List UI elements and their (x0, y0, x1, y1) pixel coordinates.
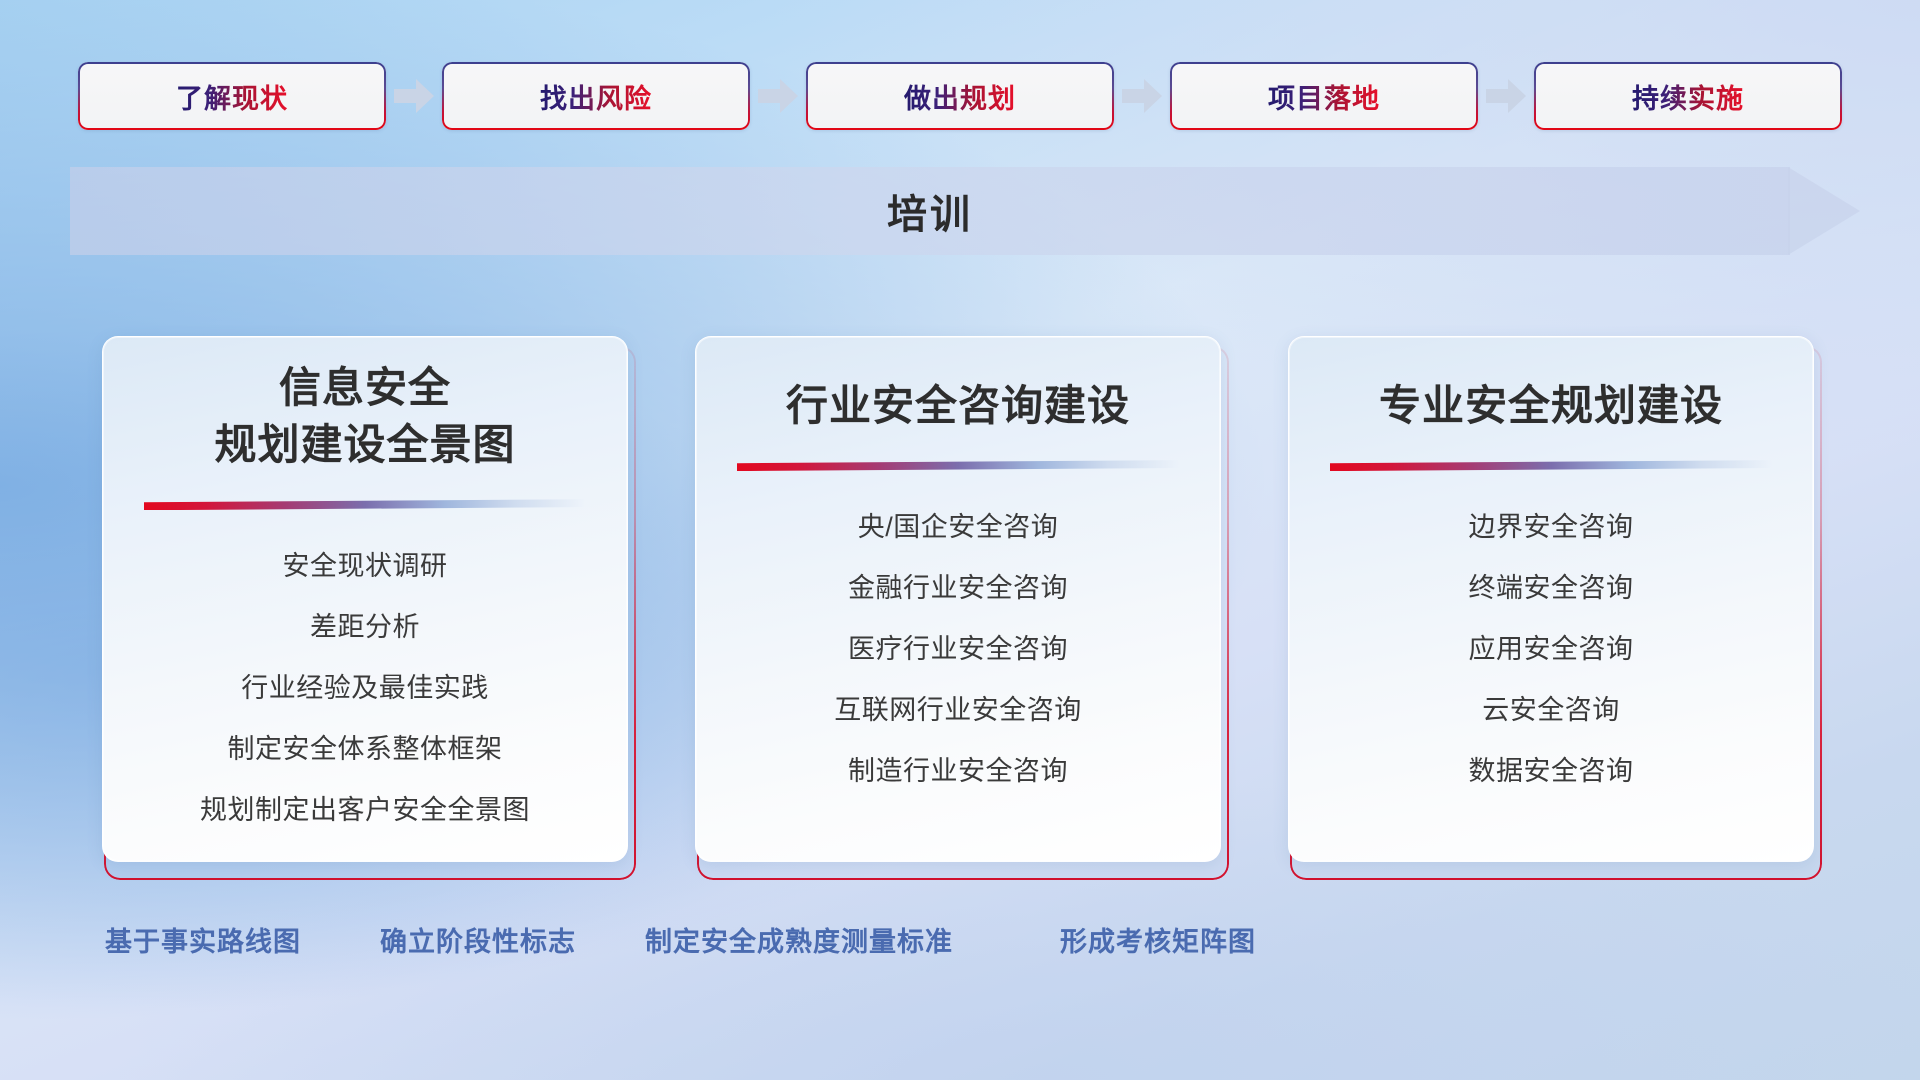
card-title-line: 行业安全咨询建设 (696, 377, 1220, 434)
list-item: 应用安全咨询 (1469, 626, 1634, 667)
card-title-line: 规划建设全景图 (103, 416, 627, 473)
footer-label-3: 制定安全成熟度测量标准 (645, 920, 953, 959)
step-arrow-icon (386, 62, 442, 130)
card-divider-bar (144, 499, 586, 510)
list-item: 终端安全咨询 (1469, 565, 1634, 606)
card-title-line: 信息安全 (103, 359, 627, 416)
process-step-label: 做出规划 (904, 77, 1016, 116)
service-card-1[interactable]: 信息安全规划建设全景图安全现状调研差距分析行业经验及最佳实践制定安全体系整体框架… (102, 336, 632, 876)
list-item: 云安全咨询 (1482, 687, 1620, 728)
list-item: 边界安全咨询 (1469, 504, 1634, 545)
process-step-4[interactable]: 项目落地 (1170, 62, 1478, 130)
card-item-list: 央/国企安全咨询金融行业安全咨询医疗行业安全咨询互联网行业安全咨询制造行业安全咨… (696, 504, 1220, 809)
card-item-list: 边界安全咨询终端安全咨询应用安全咨询云安全咨询数据安全咨询 (1289, 504, 1813, 809)
step-arrow-icon (1478, 62, 1534, 130)
process-step-3[interactable]: 做出规划 (806, 62, 1114, 130)
slide-canvas: 了解现状找出风险做出规划项目落地持续实施 培训 信息安全规划建设全景图安全现状调… (0, 0, 1920, 1080)
card-title: 行业安全咨询建设 (696, 377, 1220, 434)
card-divider (737, 460, 1179, 474)
list-item: 金融行业安全咨询 (848, 565, 1068, 606)
banner-title: 培训 (70, 167, 1790, 255)
service-card-2[interactable]: 行业安全咨询建设央/国企安全咨询金融行业安全咨询医疗行业安全咨询互联网行业安全咨… (695, 336, 1225, 876)
list-item: 制造行业安全咨询 (848, 748, 1068, 789)
card-title: 专业安全规划建设 (1289, 377, 1813, 434)
process-step-1[interactable]: 了解现状 (78, 62, 386, 130)
card-divider-bar (1330, 460, 1772, 471)
card-panel: 行业安全咨询建设央/国企安全咨询金融行业安全咨询医疗行业安全咨询互联网行业安全咨… (695, 336, 1221, 862)
process-step-label: 持续实施 (1632, 77, 1744, 116)
card-panel: 专业安全规划建设边界安全咨询终端安全咨询应用安全咨询云安全咨询数据安全咨询 (1288, 336, 1814, 862)
step-arrow-icon (750, 62, 806, 130)
card-divider-bar (737, 460, 1179, 471)
card-row: 信息安全规划建设全景图安全现状调研差距分析行业经验及最佳实践制定安全体系整体框架… (0, 336, 1920, 876)
card-title: 信息安全规划建设全景图 (103, 359, 627, 473)
card-item-list: 安全现状调研差距分析行业经验及最佳实践制定安全体系整体框架规划制定出客户安全全景… (103, 543, 627, 848)
process-step-label: 了解现状 (176, 77, 288, 116)
card-panel: 信息安全规划建设全景图安全现状调研差距分析行业经验及最佳实践制定安全体系整体框架… (102, 336, 628, 862)
footer-label-2: 确立阶段性标志 (380, 920, 576, 959)
list-item: 互联网行业安全咨询 (834, 687, 1082, 728)
list-item: 规划制定出客户安全全景图 (200, 787, 530, 828)
service-card-3[interactable]: 专业安全规划建设边界安全咨询终端安全咨询应用安全咨询云安全咨询数据安全咨询 (1288, 336, 1818, 876)
list-item: 医疗行业安全咨询 (848, 626, 1068, 667)
training-banner: 培训 (70, 167, 1860, 255)
card-divider (144, 499, 586, 513)
process-step-2[interactable]: 找出风险 (442, 62, 750, 130)
footer-label-4: 形成考核矩阵图 (1060, 920, 1256, 959)
process-step-row: 了解现状找出风险做出规划项目落地持续实施 (0, 62, 1920, 130)
process-step-5[interactable]: 持续实施 (1534, 62, 1842, 130)
process-step-label: 项目落地 (1268, 77, 1380, 116)
list-item: 安全现状调研 (283, 543, 448, 584)
list-item: 差距分析 (310, 604, 420, 645)
process-step-label: 找出风险 (540, 77, 652, 116)
arrow-right-banner-icon (1788, 151, 1860, 271)
list-item: 数据安全咨询 (1469, 748, 1634, 789)
step-arrow-icon (1114, 62, 1170, 130)
list-item: 行业经验及最佳实践 (241, 665, 489, 706)
footer-label-row: 基于事实路线图确立阶段性标志制定安全成熟度测量标准形成考核矩阵图 (0, 920, 1920, 980)
card-divider (1330, 460, 1772, 474)
card-title-line: 专业安全规划建设 (1289, 377, 1813, 434)
footer-label-1: 基于事实路线图 (105, 920, 301, 959)
list-item: 央/国企安全咨询 (858, 504, 1059, 545)
list-item: 制定安全体系整体框架 (228, 726, 503, 767)
